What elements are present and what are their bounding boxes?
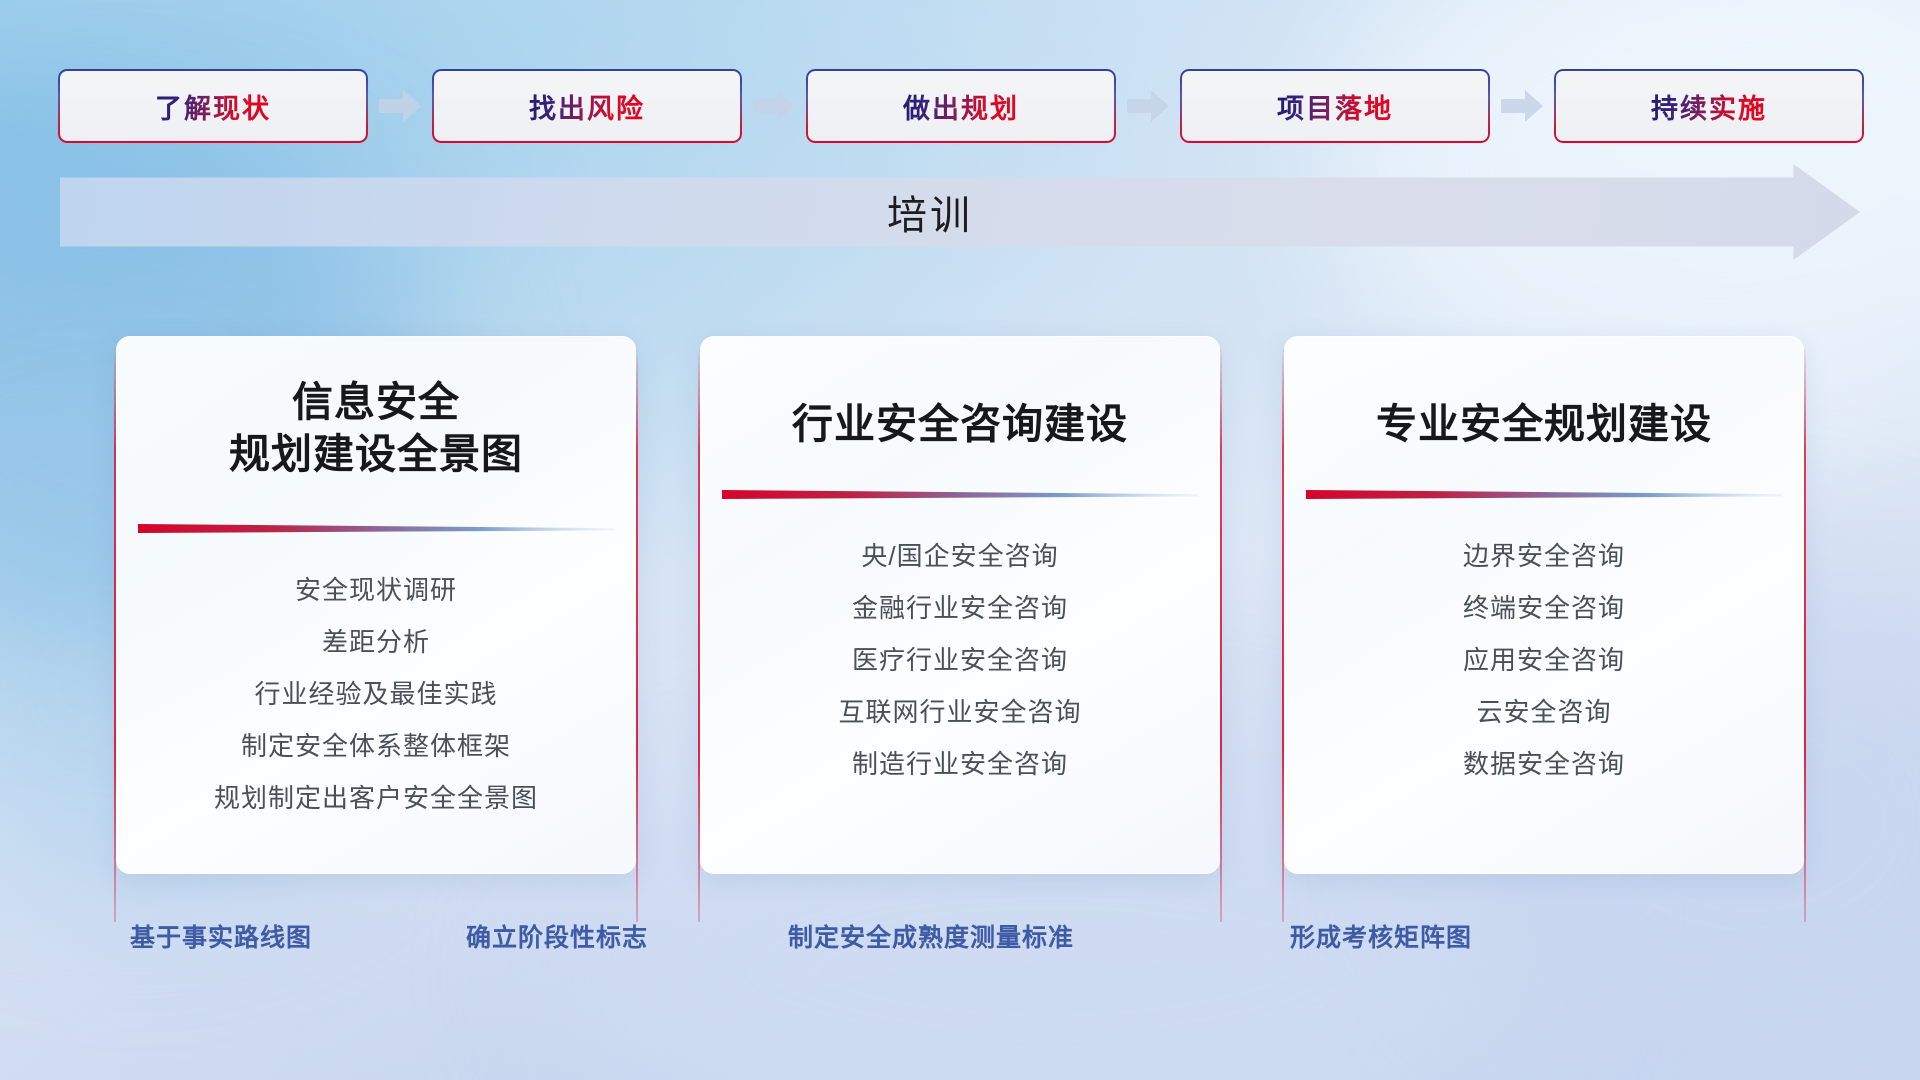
list-item: 数据安全咨询 (1284, 738, 1804, 790)
list-item: 差距分析 (116, 616, 636, 668)
card-title: 专业安全规划建设 (1284, 398, 1804, 450)
card-row: 信息安全 规划建设全景图 安全现状 (0, 336, 1920, 876)
footnote-label: 确立阶段性标志 (466, 918, 648, 954)
step-label: 做出规划 (903, 87, 1019, 126)
card-edge-right (1804, 346, 1806, 922)
card-professional-security-planning[interactable]: 专业安全规划建设 边界安全咨询 (1284, 336, 1804, 874)
card-edge-right (1220, 346, 1222, 922)
arrow-right-icon (366, 86, 434, 126)
step-label: 项目落地 (1277, 87, 1393, 126)
training-banner-label: 培训 (60, 164, 1860, 260)
list-item: 央/国企安全咨询 (700, 530, 1220, 582)
step-box-4[interactable]: 项目落地 (1182, 71, 1488, 141)
card-item-list: 边界安全咨询 终端安全咨询 应用安全咨询 云安全咨询 数据安全咨询 (1284, 530, 1804, 790)
arrow-right-icon (740, 86, 808, 126)
list-item: 安全现状调研 (116, 564, 636, 616)
list-item: 金融行业安全咨询 (700, 582, 1220, 634)
footnote-label: 形成考核矩阵图 (1290, 918, 1472, 954)
footnote-label: 制定安全成熟度测量标准 (788, 918, 1074, 954)
process-step-row: 了解现状 找出风险 做出规划 项目落地 (60, 62, 1860, 150)
list-item: 医疗行业安全咨询 (700, 634, 1220, 686)
list-item: 终端安全咨询 (1284, 582, 1804, 634)
step-box-3[interactable]: 做出规划 (808, 71, 1114, 141)
card-divider (138, 522, 614, 535)
card-item-list: 央/国企安全咨询 金融行业安全咨询 医疗行业安全咨询 互联网行业安全咨询 制造行… (700, 530, 1220, 790)
training-banner: 培训 (60, 164, 1860, 260)
card-divider (722, 488, 1198, 501)
card-industry-security-consulting[interactable]: 行业安全咨询建设 央/国企安全咨询 (700, 336, 1220, 874)
card-title: 行业安全咨询建设 (700, 398, 1220, 450)
list-item: 制定安全体系整体框架 (116, 720, 636, 772)
arrow-right-icon (1488, 86, 1556, 126)
step-box-5[interactable]: 持续实施 (1556, 71, 1862, 141)
list-item: 云安全咨询 (1284, 686, 1804, 738)
step-box-1[interactable]: 了解现状 (60, 71, 366, 141)
list-item: 行业经验及最佳实践 (116, 668, 636, 720)
list-item: 应用安全咨询 (1284, 634, 1804, 686)
step-box-2[interactable]: 找出风险 (434, 71, 740, 141)
list-item: 规划制定出客户安全全景图 (116, 772, 636, 824)
footnote-label: 基于事实路线图 (130, 918, 312, 954)
card-title: 信息安全 规划建设全景图 (116, 376, 636, 481)
list-item: 制造行业安全咨询 (700, 738, 1220, 790)
card-edge-right (636, 346, 638, 922)
list-item: 互联网行业安全咨询 (700, 686, 1220, 738)
card-divider (1306, 488, 1782, 501)
step-label: 找出风险 (529, 87, 645, 126)
step-label: 了解现状 (155, 87, 271, 126)
list-item: 边界安全咨询 (1284, 530, 1804, 582)
card-information-security-blueprint[interactable]: 信息安全 规划建设全景图 安全现状 (116, 336, 636, 874)
arrow-right-icon (1114, 86, 1182, 126)
footnote-row: 基于事实路线图 确立阶段性标志 制定安全成熟度测量标准 形成考核矩阵图 (0, 918, 1920, 968)
slide-canvas: 了解现状 找出风险 做出规划 项目落地 (0, 0, 1920, 1080)
step-label: 持续实施 (1651, 87, 1767, 126)
card-item-list: 安全现状调研 差距分析 行业经验及最佳实践 制定安全体系整体框架 规划制定出客户… (116, 564, 636, 824)
